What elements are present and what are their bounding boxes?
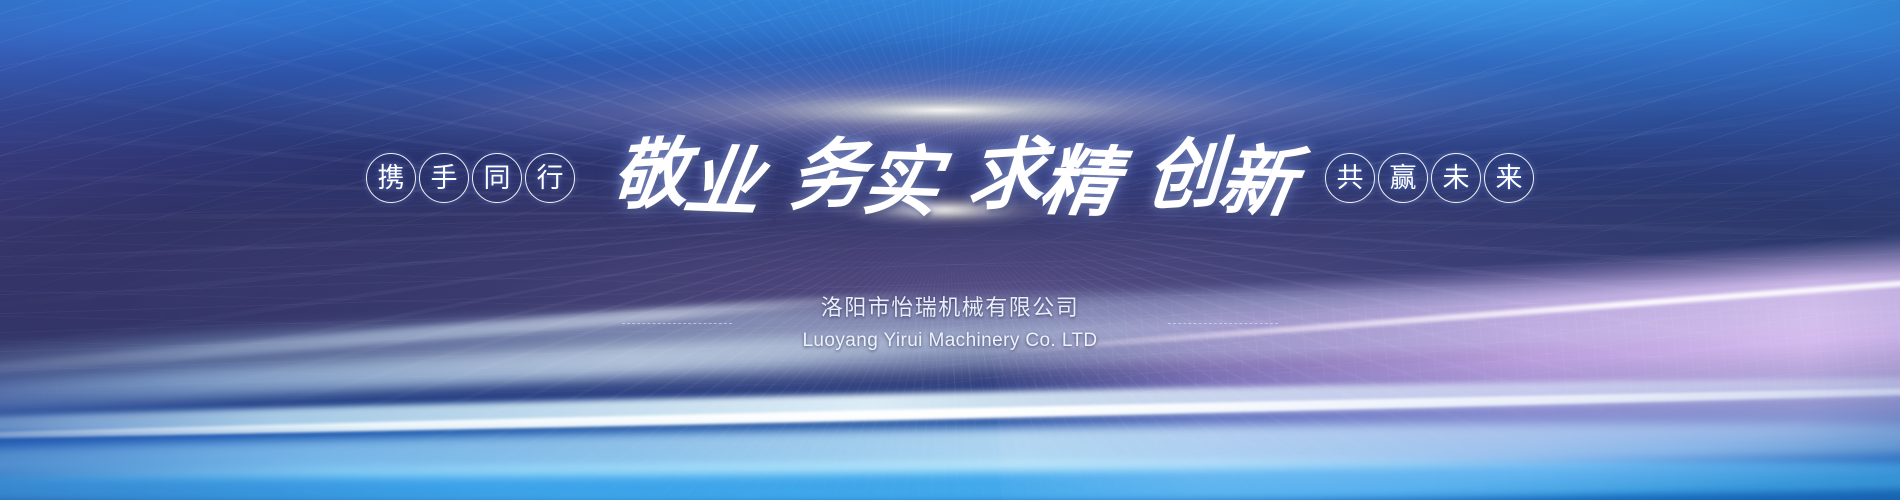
circled-char: 赢	[1378, 153, 1428, 203]
calligraphy-word: 务实	[770, 141, 957, 215]
promotional-banner: 携 手 同 行 敬业 务实 求精 创新 共	[0, 0, 1900, 500]
circled-phrase-left: 携 手 同 行	[366, 153, 575, 203]
calligraphy-char: 精	[1036, 143, 1121, 220]
circled-char: 携	[366, 153, 416, 203]
calligraphy-word: 敬业	[592, 141, 779, 215]
banner-content: 携 手 同 行 敬业 务实 求精 创新 共	[0, 0, 1900, 500]
circled-char: 手	[419, 153, 469, 203]
calligraphy-char: 敬	[610, 136, 689, 215]
dashed-rule-right	[1168, 323, 1278, 324]
circled-char: 行	[525, 153, 575, 203]
calligraphy-char: 求	[966, 136, 1045, 215]
calligraphy-char: 务	[788, 136, 867, 215]
calligraphy-char: 创	[1144, 136, 1223, 215]
calligraphy-char: 实	[858, 143, 943, 220]
company-name-cn: 洛阳市怡瑞机械有限公司	[802, 292, 1097, 325]
calligraphy-slogan: 敬业 务实 求精 创新	[597, 141, 1309, 215]
circled-phrase-right: 共 赢 未 来	[1325, 153, 1534, 203]
calligraphy-word: 求精	[948, 141, 1135, 215]
company-names: 洛阳市怡瑞机械有限公司 Luoyang Yirui Machinery Co. …	[802, 292, 1097, 356]
calligraphy-word: 创新	[1126, 141, 1313, 215]
calligraphy-char: 业	[680, 143, 765, 220]
slogan-row: 携 手 同 行 敬业 务实 求精 创新 共	[0, 128, 1900, 228]
company-name-block: 洛阳市怡瑞机械有限公司 Luoyang Yirui Machinery Co. …	[0, 292, 1900, 356]
company-name-en: Luoyang Yirui Machinery Co. LTD	[802, 327, 1097, 356]
circled-char: 共	[1325, 153, 1375, 203]
circled-char: 同	[472, 153, 522, 203]
circled-char: 未	[1431, 153, 1481, 203]
circled-char: 来	[1484, 153, 1534, 203]
dashed-rule-left	[622, 323, 732, 324]
calligraphy-char: 新	[1214, 143, 1299, 220]
